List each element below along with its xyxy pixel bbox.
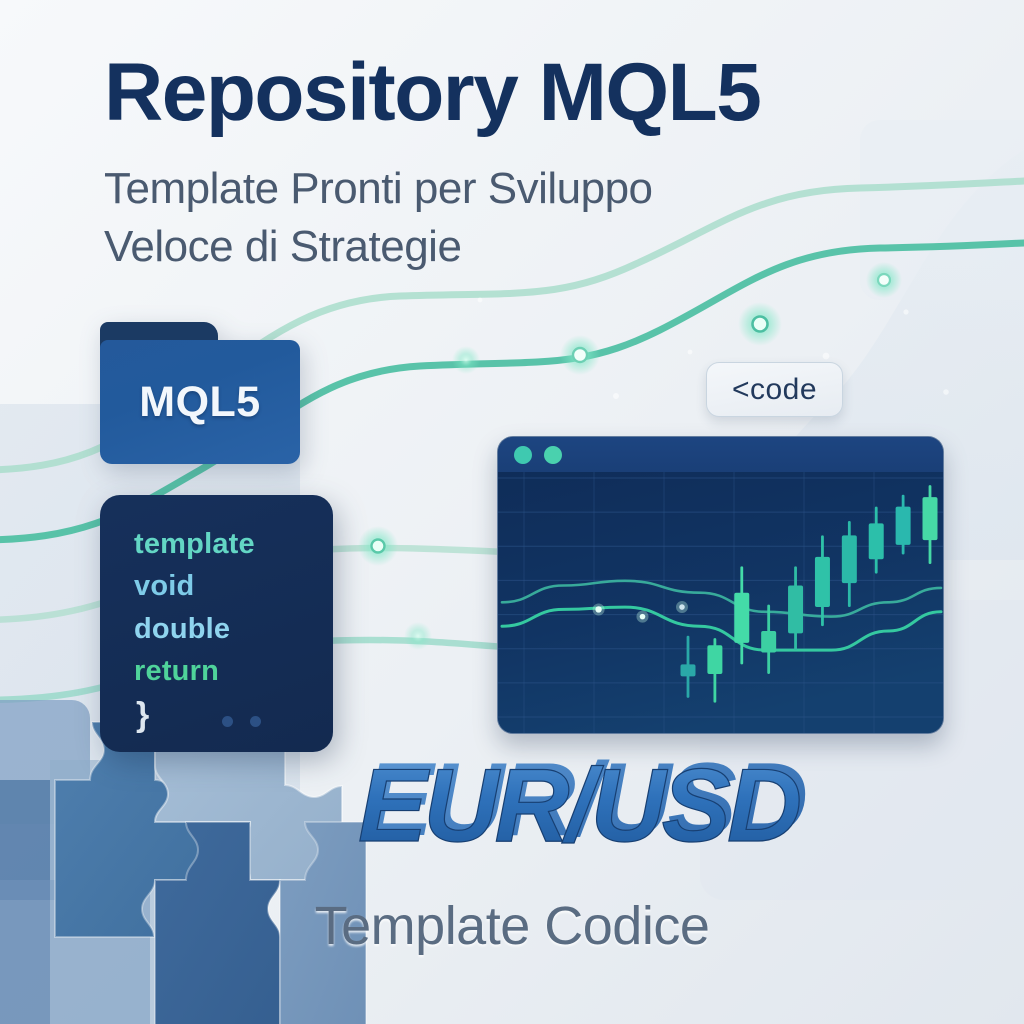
caption-text: Template Codice — [0, 895, 1024, 957]
code-line-double: double — [134, 608, 333, 650]
glow-node-6 — [404, 622, 432, 650]
code-line-return: return — [134, 650, 333, 692]
code-tag-badge[interactable]: <code — [706, 362, 843, 417]
candle-body-4 — [761, 631, 776, 653]
candle-body-10 — [923, 497, 938, 540]
folder-body: MQL5 — [100, 340, 300, 464]
chart-window[interactable] — [497, 436, 944, 734]
candlestick-chart-svg — [498, 472, 944, 734]
folder-label: MQL5 — [139, 378, 260, 427]
candle-body-5 — [788, 586, 803, 634]
page-subtitle: Template Pronti per Sviluppo Veloce di S… — [104, 160, 934, 276]
code-line-template: template — [134, 523, 333, 565]
code-dot-2 — [250, 716, 261, 727]
candlestick-chart — [498, 472, 944, 734]
candle-body-3 — [734, 593, 749, 643]
subtitle-line-2: Veloce di Strategie — [104, 218, 934, 276]
window-dot-1-icon[interactable] — [514, 446, 532, 464]
svg-text:EUR/USD: EUR/USD — [358, 748, 800, 855]
closing-brace: } — [136, 696, 149, 735]
candle-body-8 — [869, 523, 884, 559]
candle-body-6 — [815, 557, 830, 607]
poster-canvas: Repository MQL5 Template Pronti per Svil… — [0, 0, 1024, 1024]
page-title: Repository MQL5 — [104, 52, 934, 134]
currency-pair-3d-label: EUR/USD EUR/USD — [358, 735, 888, 855]
candle-body-9 — [896, 507, 911, 545]
window-dot-2-icon[interactable] — [544, 446, 562, 464]
header-block: Repository MQL5 Template Pronti per Svil… — [104, 52, 934, 276]
code-dot-1 — [222, 716, 233, 727]
folder-icon[interactable]: MQL5 — [100, 322, 300, 464]
code-line-void: void — [134, 565, 333, 607]
candle-body-1 — [681, 664, 696, 676]
code-snippet-card[interactable]: template void double return } — [100, 495, 333, 752]
chart-marker-dot-3 — [679, 604, 685, 610]
eurusd-face: EUR/USD — [358, 748, 800, 855]
chart-window-title-bar — [498, 437, 944, 472]
glow-node-5 — [452, 346, 480, 374]
candle-body-2 — [707, 645, 722, 674]
code-card-footer: } — [134, 696, 333, 742]
chart-marker-dot-2 — [640, 614, 646, 620]
eurusd-svg: EUR/USD EUR/USD — [358, 735, 888, 855]
candle-body-7 — [842, 535, 857, 583]
code-tag-label: <code — [732, 373, 817, 407]
chart-marker-dot-1 — [595, 606, 601, 612]
subtitle-line-1: Template Pronti per Sviluppo — [104, 164, 653, 213]
